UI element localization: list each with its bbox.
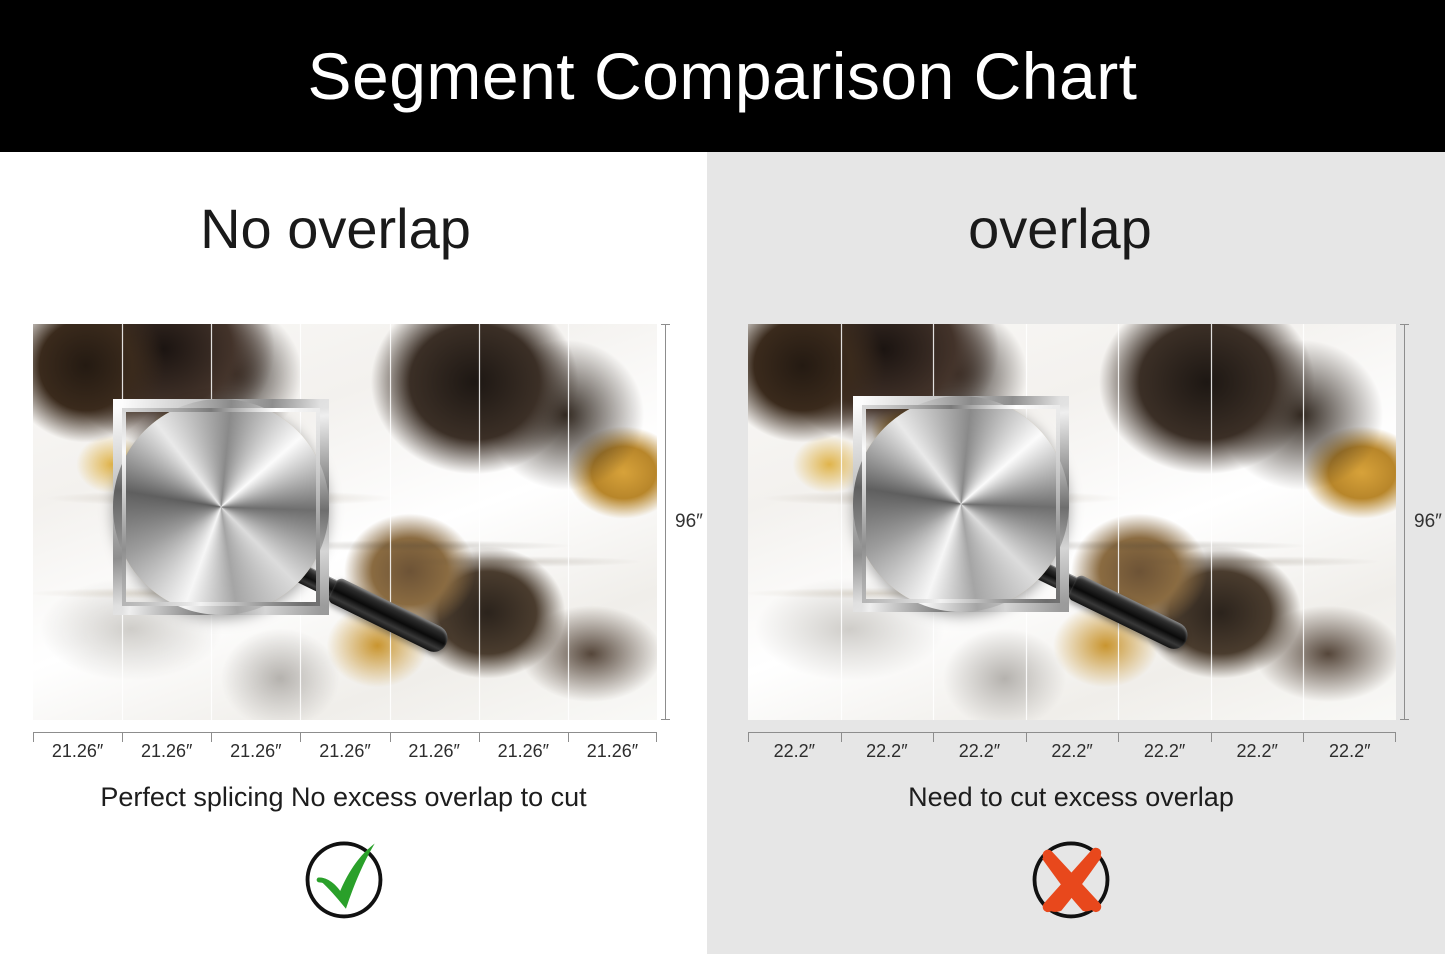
panel-heading-no-overlap: No overlap (0, 196, 689, 261)
panel-heading-overlap: overlap (691, 196, 1429, 261)
segment-label: 22.2″ (748, 741, 841, 762)
segment-label: 22.2″ (1303, 741, 1396, 762)
title-banner: Segment Comparison Chart (0, 0, 1445, 152)
segment-label: 22.2″ (841, 741, 934, 762)
dimension-line-vertical (665, 324, 666, 720)
comparison-panels: No overlap (0, 152, 1445, 954)
panel-no-overlap: No overlap (0, 152, 707, 954)
magnifier-lens (113, 399, 329, 615)
dimension-cap-bottom (1400, 719, 1409, 720)
height-label-overlap: 96″ (1414, 511, 1442, 533)
dimension-line-horizontal (33, 732, 657, 733)
mural-preview-overlap (748, 324, 1396, 720)
width-dimension-no-overlap: 21.26″ 21.26″ 21.26″ 21.26″ 21.26″ 21.26… (33, 732, 657, 766)
caption-overlap: Need to cut excess overlap (702, 782, 1440, 813)
segment-label: 21.26″ (33, 741, 122, 762)
segment-label: 21.26″ (211, 741, 300, 762)
mural-preview-no-overlap (33, 324, 657, 720)
height-label-no-overlap: 96″ (675, 511, 703, 533)
dimension-line-vertical (1404, 324, 1405, 720)
magnifier-lens (853, 396, 1069, 612)
page-title: Segment Comparison Chart (307, 38, 1137, 114)
marble-vein-overlay (748, 324, 1396, 720)
segment-labels-no-overlap: 21.26″ 21.26″ 21.26″ 21.26″ 21.26″ 21.26… (33, 741, 657, 762)
panel-overlap: overlap (707, 152, 1445, 954)
segment-label: 21.26″ (390, 741, 479, 762)
dimension-cap-bottom (661, 719, 670, 720)
segment-label: 21.26″ (479, 741, 568, 762)
segment-label: 22.2″ (933, 741, 1026, 762)
mural-artwork-no-overlap (33, 324, 657, 720)
segment-labels-overlap: 22.2″ 22.2″ 22.2″ 22.2″ 22.2″ 22.2″ 22.2… (748, 741, 1396, 762)
segment-label: 21.26″ (568, 741, 657, 762)
dimension-line-horizontal (748, 732, 1396, 733)
width-dimension-overlap: 22.2″ 22.2″ 22.2″ 22.2″ 22.2″ 22.2″ 22.2… (748, 732, 1396, 766)
green-check-icon (296, 830, 392, 926)
segment-label: 22.2″ (1026, 741, 1119, 762)
segment-label: 21.26″ (122, 741, 211, 762)
segment-label: 22.2″ (1211, 741, 1304, 762)
magnifier-zoomed-texture (122, 408, 320, 606)
caption-no-overlap: Perfect splicing No excess overlap to cu… (0, 782, 697, 813)
magnifier-zoomed-texture (862, 405, 1060, 603)
segment-label: 22.2″ (1118, 741, 1211, 762)
segment-label: 21.26″ (300, 741, 389, 762)
mural-artwork-overlap (748, 324, 1396, 720)
red-cross-icon (1023, 830, 1119, 926)
